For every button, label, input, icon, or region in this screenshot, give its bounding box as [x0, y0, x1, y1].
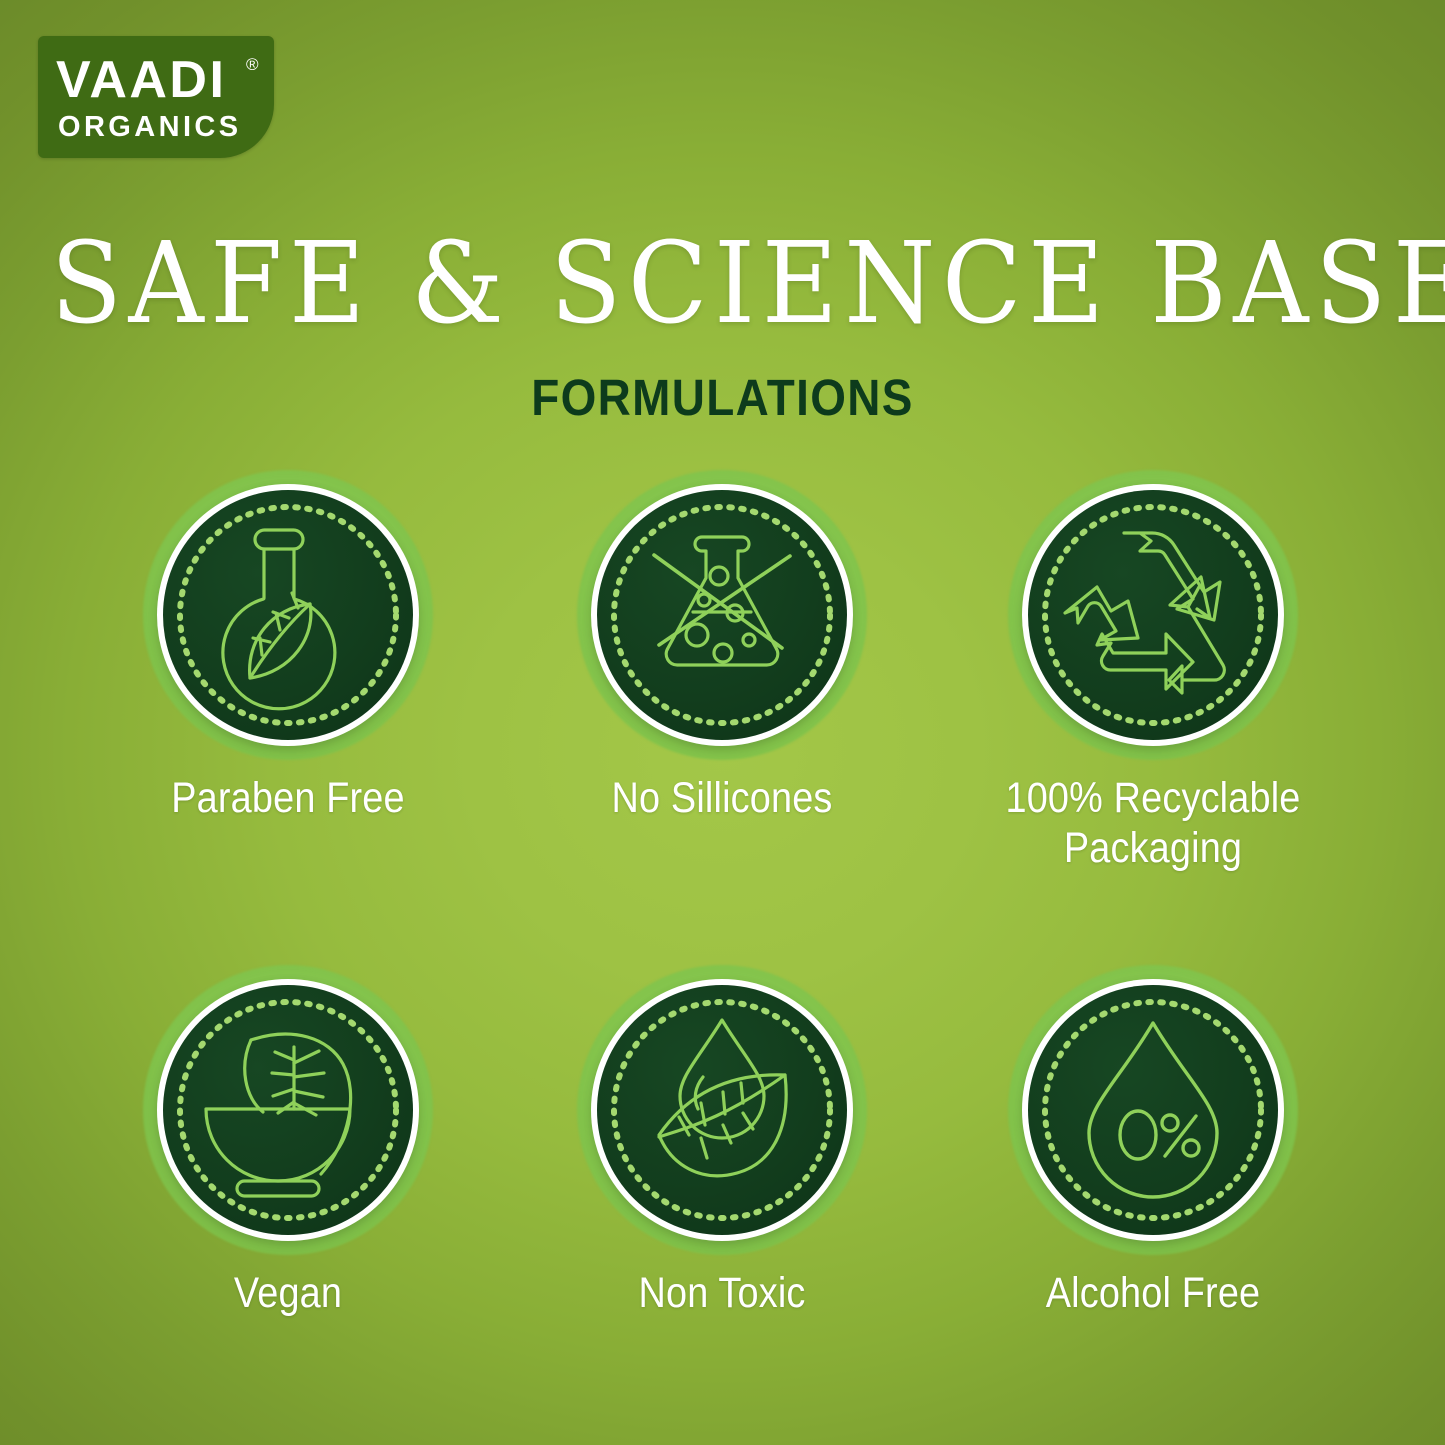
- mortar-leaf-icon: [163, 985, 413, 1235]
- feature-paraben-free: Paraben Free: [73, 470, 503, 824]
- badge-label: Paraben Free: [99, 774, 477, 824]
- badge-core: [163, 490, 413, 740]
- badge-label: No Sillicones: [533, 774, 911, 824]
- badge-core: [1028, 490, 1278, 740]
- logo-subtitle: ORGANICS: [58, 113, 242, 142]
- promo-banner: VAADI ® ORGANICS SAFE & SCIENCE BASED FO…: [0, 0, 1445, 1445]
- brand-logo: VAADI ® ORGANICS: [38, 36, 274, 158]
- flask-leaf-icon: [163, 490, 413, 740]
- feature-recyclable-packaging: 100% Recyclable Packaging: [938, 470, 1368, 874]
- feature-no-sillicones: No Sillicones: [507, 470, 937, 824]
- badge-medallion: [143, 470, 433, 760]
- badge-medallion: [1008, 965, 1298, 1255]
- badge-label: Alcohol Free: [964, 1269, 1342, 1319]
- badge-label: 100% Recyclable Packaging: [964, 774, 1342, 874]
- badge-label: Non Toxic: [533, 1269, 911, 1319]
- badge-medallion: [577, 470, 867, 760]
- badge-core: [163, 985, 413, 1235]
- page-title: SAFE & SCIENCE BASED: [51, 228, 1395, 340]
- badge-core: [1028, 985, 1278, 1235]
- recycle-icon: [1028, 490, 1278, 740]
- feature-vegan: Vegan: [73, 965, 503, 1319]
- badge-label: Vegan: [99, 1269, 477, 1319]
- logo-wordmark: VAADI: [56, 54, 226, 106]
- badge-core: [597, 985, 847, 1235]
- registered-trademark-icon: ®: [246, 56, 259, 73]
- flask-crossed-out-icon: [597, 490, 847, 740]
- badge-medallion: [1008, 470, 1298, 760]
- droplet-zero-percent-icon: [1028, 985, 1278, 1235]
- droplet-leaf-icon: [597, 985, 847, 1235]
- page-subtitle: FORMULATIONS: [72, 372, 1373, 423]
- badge-medallion: [143, 965, 433, 1255]
- feature-alcohol-free: Alcohol Free: [938, 965, 1368, 1319]
- feature-non-toxic: Non Toxic: [507, 965, 937, 1319]
- badge-core: [597, 490, 847, 740]
- feature-badge-grid: Paraben Free: [0, 470, 1445, 1370]
- badge-medallion: [577, 965, 867, 1255]
